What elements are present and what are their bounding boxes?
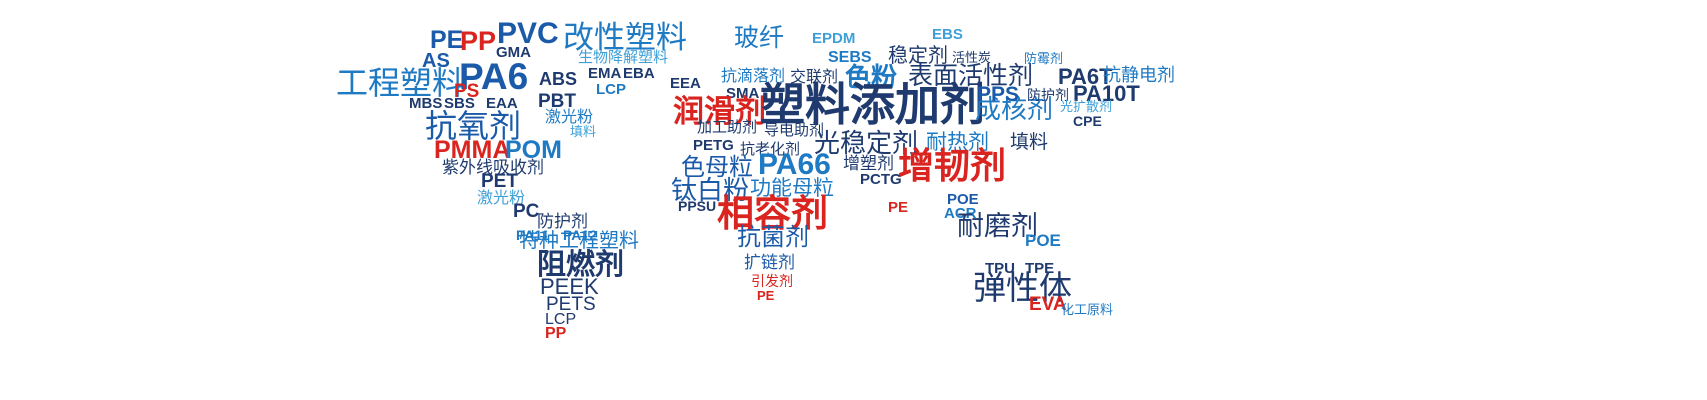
cloud-word[interactable]: PPS — [977, 84, 1019, 105]
cloud-word[interactable]: 光扩散剂 — [1060, 100, 1112, 113]
cloud-word[interactable]: 填料 — [1010, 133, 1048, 152]
cloud-word[interactable]: EEA — [670, 76, 701, 91]
cloud-word[interactable]: PE — [888, 200, 908, 215]
cloud-word[interactable]: 特种工程塑料 — [519, 231, 639, 251]
cloud-word[interactable]: PCTG — [860, 172, 902, 187]
cloud-word[interactable]: 生物降解塑料 — [578, 50, 668, 65]
cloud-word[interactable]: PET — [481, 172, 518, 191]
word-cloud-canvas: PEPPPVC改性塑料玻纤EPDMEBSGMAAS生物降解塑料SEBS稳定剂活性… — [0, 0, 1707, 400]
cloud-word[interactable]: EBA — [623, 66, 655, 81]
cloud-word[interactable]: 加工助剂 — [697, 120, 757, 135]
cloud-word[interactable]: PA66 — [758, 150, 831, 180]
cloud-word[interactable]: CPE — [1073, 114, 1102, 128]
cloud-word[interactable]: 塑料添加剂 — [760, 82, 985, 127]
cloud-word[interactable]: 玻纤 — [734, 26, 784, 51]
cloud-word[interactable]: 化工原料 — [1061, 303, 1113, 316]
cloud-word[interactable]: ABS — [539, 70, 577, 88]
cloud-word[interactable]: PETG — [693, 138, 734, 153]
cloud-word[interactable]: EMA — [588, 66, 621, 81]
cloud-word[interactable]: PP — [460, 28, 496, 55]
cloud-word[interactable]: 填料 — [570, 125, 596, 138]
cloud-word[interactable]: LCP — [596, 82, 626, 97]
cloud-word[interactable]: EBS — [932, 27, 963, 42]
cloud-word[interactable]: POE — [1025, 232, 1061, 249]
cloud-word[interactable]: PC — [513, 202, 539, 221]
cloud-word[interactable]: 抗菌剂 — [737, 226, 809, 250]
cloud-word[interactable]: PPSU — [678, 199, 716, 213]
cloud-word[interactable]: PE — [757, 289, 774, 302]
cloud-word[interactable]: EPDM — [812, 31, 855, 46]
cloud-word[interactable]: PP — [545, 326, 566, 342]
cloud-word[interactable]: PS — [454, 82, 479, 101]
cloud-word[interactable]: 扩链剂 — [744, 254, 795, 271]
cloud-word[interactable]: 增韧剂 — [898, 148, 1006, 184]
cloud-word[interactable]: 增塑剂 — [843, 155, 894, 172]
cloud-word[interactable]: 引发剂 — [751, 274, 793, 288]
